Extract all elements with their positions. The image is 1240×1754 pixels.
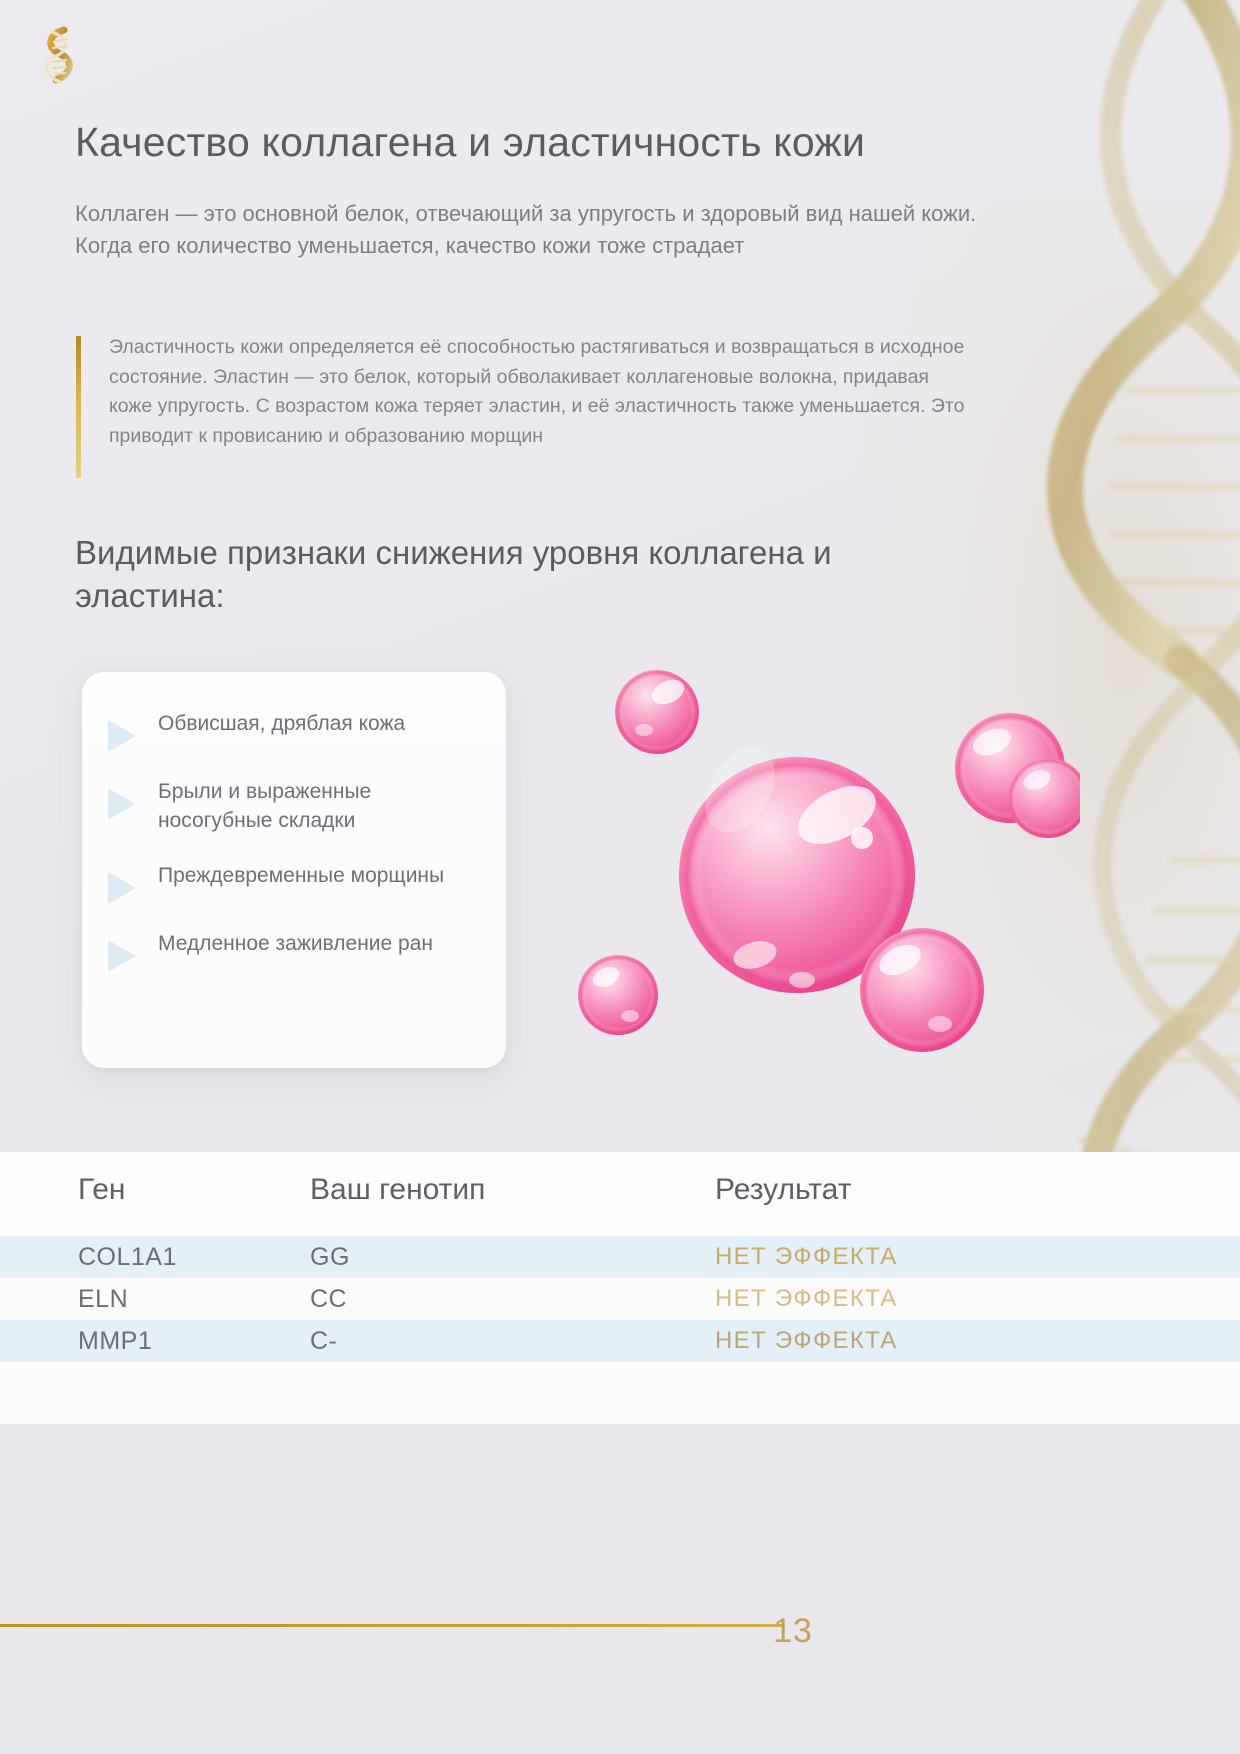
dna-helix-icon xyxy=(30,22,86,94)
list-item-label: Медленное заживление ран xyxy=(158,926,433,959)
table-header-row: Ген Ваш генотип Результат xyxy=(0,1152,1240,1228)
cell-genotype: CC xyxy=(310,1285,715,1314)
page-number: 13 xyxy=(733,1612,853,1651)
quote-text: Эластичность кожи определяется её способ… xyxy=(109,333,966,452)
list-item: Преждевременные морщины xyxy=(108,858,476,904)
table-row: MMP1 C- НЕТ ЭФФЕКТА xyxy=(0,1320,1240,1362)
list-item-label: Брыли и выраженные носогубные складки xyxy=(158,774,476,836)
table-bottom-spacer xyxy=(0,1362,1240,1424)
genotype-table: Ген Ваш генотип Результат COL1A1 GG НЕТ … xyxy=(0,1152,1240,1424)
status-badge: НЕТ ЭФФЕКТА xyxy=(715,1285,1240,1313)
cell-genotype: GG xyxy=(310,1243,715,1272)
cell-gene: MMP1 xyxy=(0,1327,310,1356)
quote-accent-bar xyxy=(76,336,81,478)
column-header-genotype: Ваш генотип xyxy=(310,1173,715,1207)
triangle-right-icon xyxy=(108,788,136,820)
table-row: ELN CC НЕТ ЭФФЕКТА xyxy=(0,1278,1240,1320)
triangle-right-icon xyxy=(108,872,136,904)
status-badge: НЕТ ЭФФЕКТА xyxy=(715,1327,1240,1355)
list-item: Медленное заживление ран xyxy=(108,926,476,972)
triangle-right-icon xyxy=(108,940,136,972)
table-row: COL1A1 GG НЕТ ЭФФЕКТА xyxy=(0,1236,1240,1278)
list-item-label: Преждевременные морщины xyxy=(158,858,444,891)
cell-gene: ELN xyxy=(0,1285,310,1314)
status-badge: НЕТ ЭФФЕКТА xyxy=(715,1243,1240,1271)
intro-paragraph: Коллаген — это основной белок, отвечающи… xyxy=(75,198,980,262)
page-title: Качество коллагена и эластичность кожи xyxy=(75,118,975,166)
pink-bubbles-illustration xyxy=(540,650,1080,1120)
table-header-spacer xyxy=(0,1228,1240,1236)
column-header-result: Результат xyxy=(715,1173,1240,1207)
footer-divider xyxy=(0,1624,783,1627)
signs-card: Обвисшая, дряблая кожа Брыли и выраженны… xyxy=(82,672,506,1068)
quote-block: Эластичность кожи определяется её способ… xyxy=(76,333,966,452)
report-page: Качество коллагена и эластичность кожи К… xyxy=(0,0,1240,1754)
list-item: Брыли и выраженные носогубные складки xyxy=(108,774,476,836)
list-item: Обвисшая, дряблая кожа xyxy=(108,706,476,752)
cell-genotype: C- xyxy=(310,1327,715,1356)
cell-gene: COL1A1 xyxy=(0,1243,310,1272)
signs-section-title: Видимые признаки снижения уровня коллаге… xyxy=(75,532,875,618)
triangle-right-icon xyxy=(108,720,136,752)
list-item-label: Обвисшая, дряблая кожа xyxy=(158,706,405,739)
column-header-gene: Ген xyxy=(0,1173,310,1207)
page-footer: 13 xyxy=(0,1514,1240,1754)
